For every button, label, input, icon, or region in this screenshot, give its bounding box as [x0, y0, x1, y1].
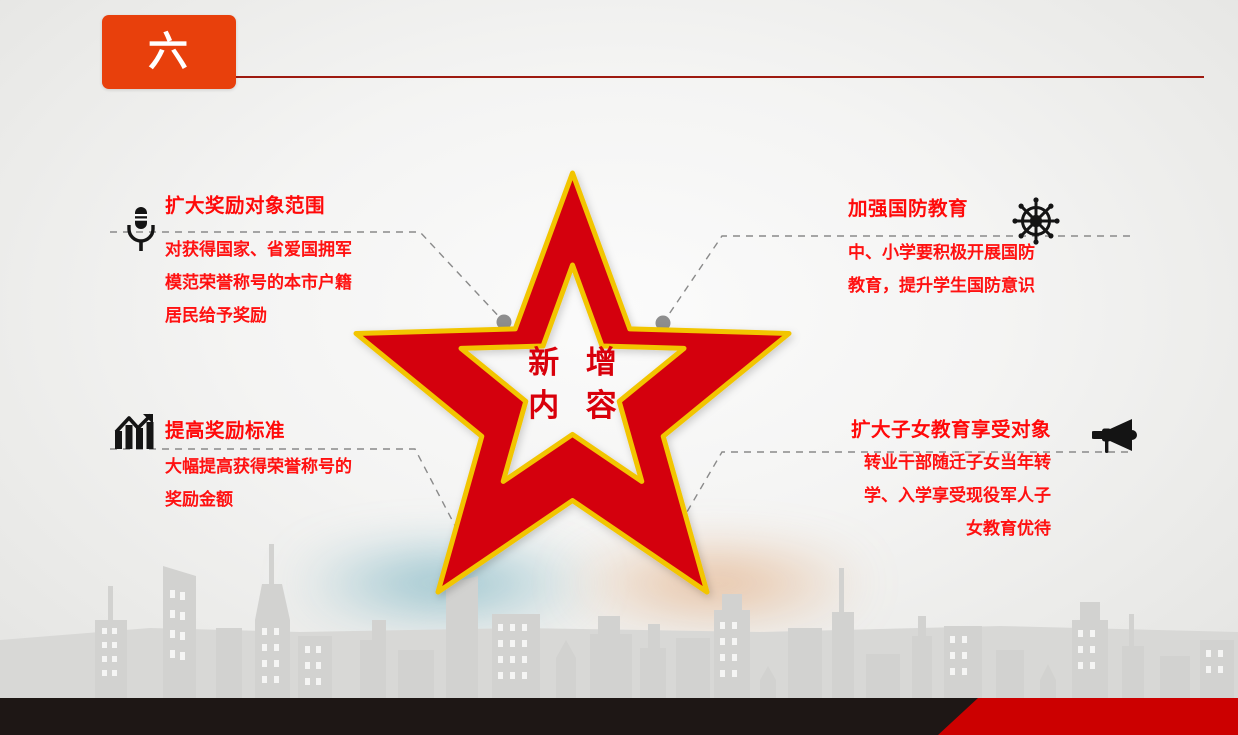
- footer-bar: [0, 698, 1238, 735]
- block-body-line: 教育，提升学生国防意识: [848, 270, 1035, 303]
- section-number-text: 六: [148, 32, 190, 72]
- block-body: 转业干部随迁子女当年转 学、入学享受现役军人子 女教育优待: [851, 447, 1051, 545]
- bar-chart-growth-icon: [113, 412, 157, 452]
- block-body-line: 对获得国家、省爱国拥军: [165, 234, 352, 267]
- block-body-line: 大幅提高获得荣誉称号的: [165, 451, 352, 484]
- content-block-top-right: 加强国防教育 中、小学要积极开展国防 教育，提升学生国防意识: [848, 199, 1035, 303]
- block-body: 对获得国家、省爱国拥军 模范荣誉称号的本市户籍 居民给予奖励: [165, 234, 352, 332]
- block-body: 中、小学要积极开展国防 教育，提升学生国防意识: [848, 237, 1035, 302]
- block-heading: 扩大奖励对象范围: [165, 196, 352, 217]
- block-body-line: 模范荣誉称号的本市户籍: [165, 267, 352, 300]
- megaphone-icon: [1092, 418, 1138, 456]
- block-body-line: 居民给予奖励: [165, 300, 352, 333]
- content-block-bottom-right: 扩大子女教育享受对象 转业干部随迁子女当年转 学、入学享受现役军人子 女教育优待: [851, 420, 1051, 545]
- microphone-icon: [124, 205, 158, 253]
- block-body-line: 学、入学享受现役军人子: [851, 480, 1051, 513]
- central-star-graphic: 新 增 内 容: [355, 168, 790, 593]
- content-block-bottom-left: 提高奖励标准 大幅提高获得荣誉称号的 奖励金额: [165, 421, 352, 517]
- content-block-top-left: 扩大奖励对象范围 对获得国家、省爱国拥军 模范荣誉称号的本市户籍 居民给予奖励: [165, 196, 352, 332]
- block-heading: 提高奖励标准: [165, 421, 352, 442]
- block-heading: 加强国防教育: [848, 199, 1035, 220]
- slide-canvas: 六 新 增 内 容: [0, 0, 1238, 735]
- block-body-line: 女教育优待: [851, 513, 1051, 546]
- footer-accent-shape: [938, 698, 1238, 735]
- block-body-line: 中、小学要积极开展国防: [848, 237, 1035, 270]
- block-heading: 扩大子女教育享受对象: [851, 420, 1051, 441]
- block-body-line: 奖励金额: [165, 484, 352, 517]
- section-number-badge: 六: [102, 15, 236, 89]
- header-divider-rule: [232, 76, 1204, 78]
- block-body-line: 转业干部随迁子女当年转: [851, 447, 1051, 480]
- block-body: 大幅提高获得荣誉称号的 奖励金额: [165, 451, 352, 516]
